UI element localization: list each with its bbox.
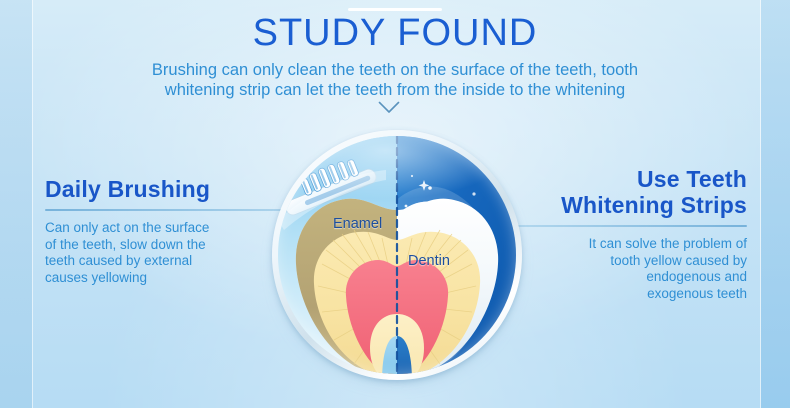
title-top-divider [348, 8, 442, 11]
poster-canvas: STUDY FOUND Brushing can only clean the … [0, 0, 790, 408]
right-edge-band [761, 0, 790, 408]
enamel-label: Enamel [333, 216, 382, 232]
page-title: STUDY FOUND [0, 14, 790, 52]
tooth-illustration [272, 130, 522, 380]
right-panel-body: It can solve the problem of tooth yellow… [515, 236, 747, 302]
circle-disc [278, 136, 516, 374]
right-panel-seam [760, 0, 761, 408]
chevron-down-icon [378, 101, 400, 114]
left-edge-band [0, 0, 32, 408]
page-subtitle: Brushing can only clean the teeth on the… [80, 60, 710, 100]
right-panel-heading: Use Teeth Whitening Strips [515, 166, 747, 218]
right-panel-divider [515, 225, 747, 227]
tooth-cross-section-svg [278, 136, 516, 374]
right-panel: Use Teeth Whitening Strips It can solve … [515, 166, 747, 302]
dentin-label: Dentin [408, 253, 450, 269]
left-panel-seam [32, 0, 33, 408]
